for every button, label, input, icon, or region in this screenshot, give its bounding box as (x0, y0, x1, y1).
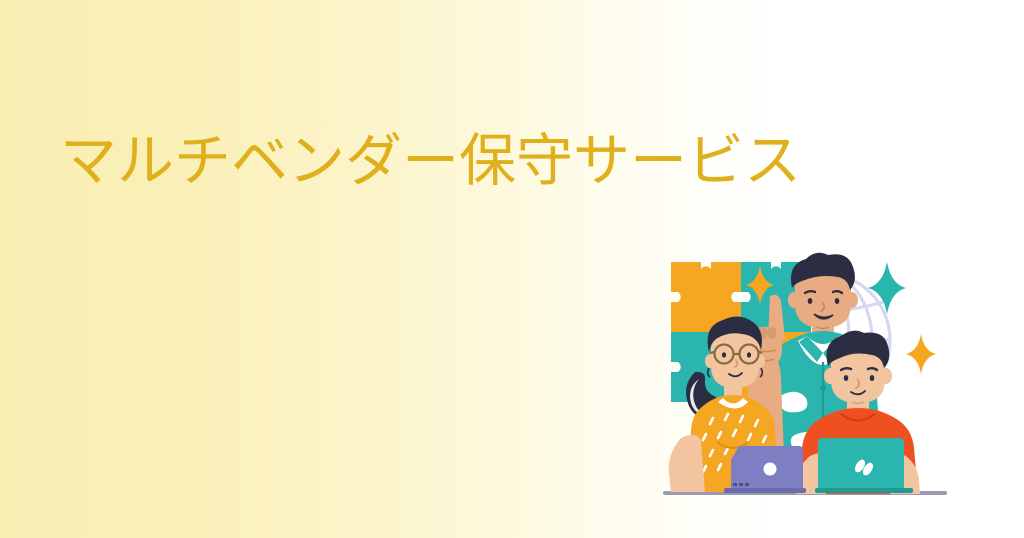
woman-ear-left (705, 354, 715, 368)
standing-man-eye-right (835, 298, 840, 304)
team-collaboration-illustration (655, 248, 955, 528)
laptop-purple-keys (733, 483, 749, 486)
laptop-purple (724, 446, 806, 493)
red-man-ear-right (880, 368, 892, 384)
standing-man-ear-right (846, 292, 858, 308)
laptop-teal (815, 438, 913, 493)
standing-man-eye-left (808, 298, 813, 304)
red-man-ear-left (824, 368, 836, 384)
woman-arm (669, 435, 705, 492)
laptop-purple-base (724, 488, 806, 493)
standing-man-button-1 (820, 385, 826, 391)
laptop-purple-logo (764, 463, 777, 476)
woman-eye-left (722, 352, 726, 357)
red-man-eye-right (870, 375, 875, 381)
page-title: マルチベンダー保守サービス (60, 126, 801, 197)
woman-eye-right (747, 352, 751, 357)
red-man-eye-left (844, 375, 849, 381)
laptop-teal-base (815, 488, 913, 493)
banner-hero: マルチベンダー保守サービス (0, 0, 1024, 538)
sparkle-orange-right-icon (906, 334, 936, 374)
standing-man-ear-left (788, 292, 800, 308)
